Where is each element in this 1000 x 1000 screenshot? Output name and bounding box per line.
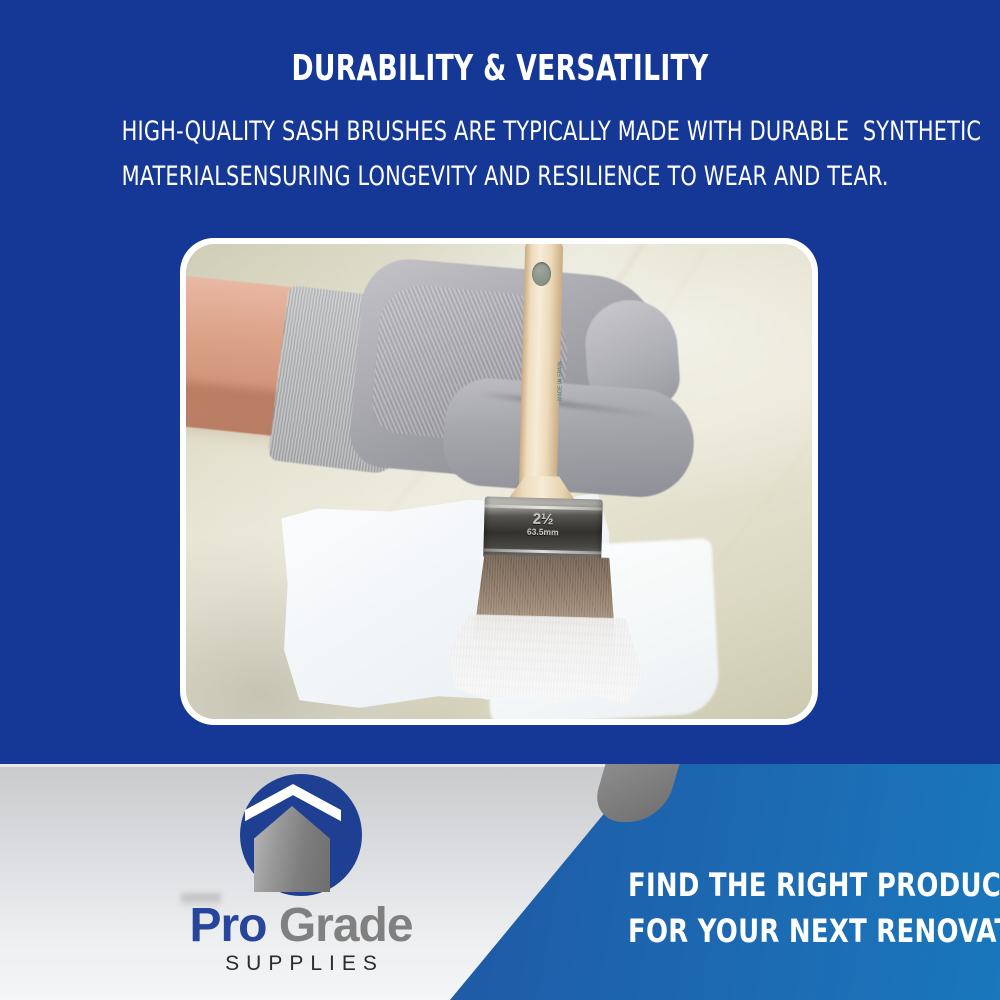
- brand-logo[interactable]: Pro Grade SUPPLIES: [136, 774, 466, 976]
- page-title: DURABILITY & VERSATILITY: [90, 50, 910, 88]
- product-photo-card: MADE IN SPAIN 2½ 63.5mm: [180, 238, 818, 725]
- brush-bristle-tips: [447, 613, 645, 704]
- hero-description: HIGH-QUALITY SASH BRUSHES ARE TYPICALLY …: [122, 110, 879, 199]
- logo-icon: [240, 774, 362, 896]
- brand-tagline: SUPPLIES: [136, 952, 466, 976]
- marketing-infographic: DURABILITY & VERSATILITY HIGH-QUALITY SA…: [0, 0, 1000, 1000]
- product-photo: MADE IN SPAIN 2½ 63.5mm: [186, 244, 812, 719]
- brush-handle-text: MADE IN SPAIN: [557, 311, 565, 401]
- footer-cta-text: FIND THE RIGHT PRODUCT FOR YOUR NEXT REN…: [628, 862, 1000, 955]
- hero-section: DURABILITY & VERSATILITY HIGH-QUALITY SA…: [0, 0, 1000, 764]
- hero-description-line-1: HIGH-QUALITY SASH BRUSHES ARE TYPICALLY …: [122, 110, 879, 155]
- hero-description-line-2: MATERIALSENSURING LONGEVITY AND RESILIEN…: [122, 155, 879, 200]
- brand-name-secondary: Grade: [279, 899, 413, 952]
- footer-cta-line-2: FOR YOUR NEXT RENOVATION: [628, 908, 1000, 954]
- brush-size-label: 2½ 63.5mm: [484, 510, 603, 538]
- logo-reflection: [181, 894, 221, 908]
- footer-section: Pro Grade SUPPLIES FIND THE RIGHT PRODUC…: [0, 764, 1000, 1000]
- brand-name: Pro Grade: [136, 902, 466, 950]
- footer-cta-line-1: FIND THE RIGHT PRODUCT: [628, 862, 1000, 908]
